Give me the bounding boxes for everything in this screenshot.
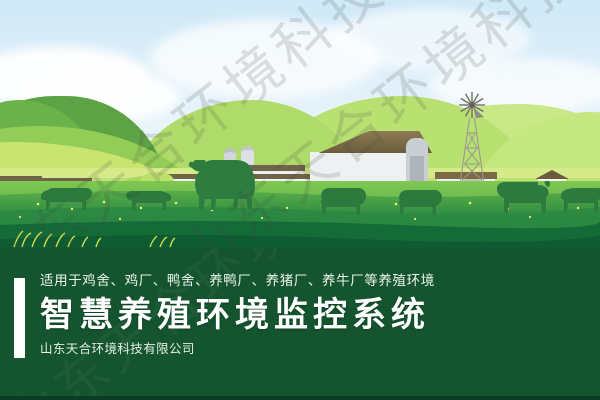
poster-root: 山东天合环境科技有限公司 山东天合环境科技有限公司 山东天合环境科技有限公司 适… <box>0 0 600 400</box>
farm-scene-illustration: 山东天合环境科技有限公司 山东天合环境科技有限公司 <box>0 0 600 250</box>
page-title: 智慧养殖环境监控系统 <box>40 296 585 334</box>
company-name: 山东天合环境科技有限公司 <box>40 343 585 356</box>
cow-icon <box>318 183 378 217</box>
cow-icon <box>122 186 172 216</box>
cow-icon <box>480 177 550 217</box>
banner-subtitle: 适用于鸡舍、鸡厂、鸭舍、养鸭厂、养猪厂、养牛厂等养殖环境 <box>40 274 585 288</box>
cow-icon <box>560 183 600 216</box>
accent-bar <box>14 278 25 358</box>
cow-icon <box>398 186 454 217</box>
cow-icon <box>40 182 104 216</box>
cow-icon <box>185 160 261 218</box>
bottom-divider <box>0 396 600 400</box>
title-banner: 山东天合环境科技有限公司 适用于鸡舍、鸡厂、鸭舍、养鸭厂、养猪厂、养牛厂等养殖环… <box>0 248 600 400</box>
banner-text-block: 适用于鸡舍、鸡厂、鸭舍、养鸭厂、养猪厂、养牛厂等养殖环境 智慧养殖环境监控系统 … <box>40 274 585 355</box>
